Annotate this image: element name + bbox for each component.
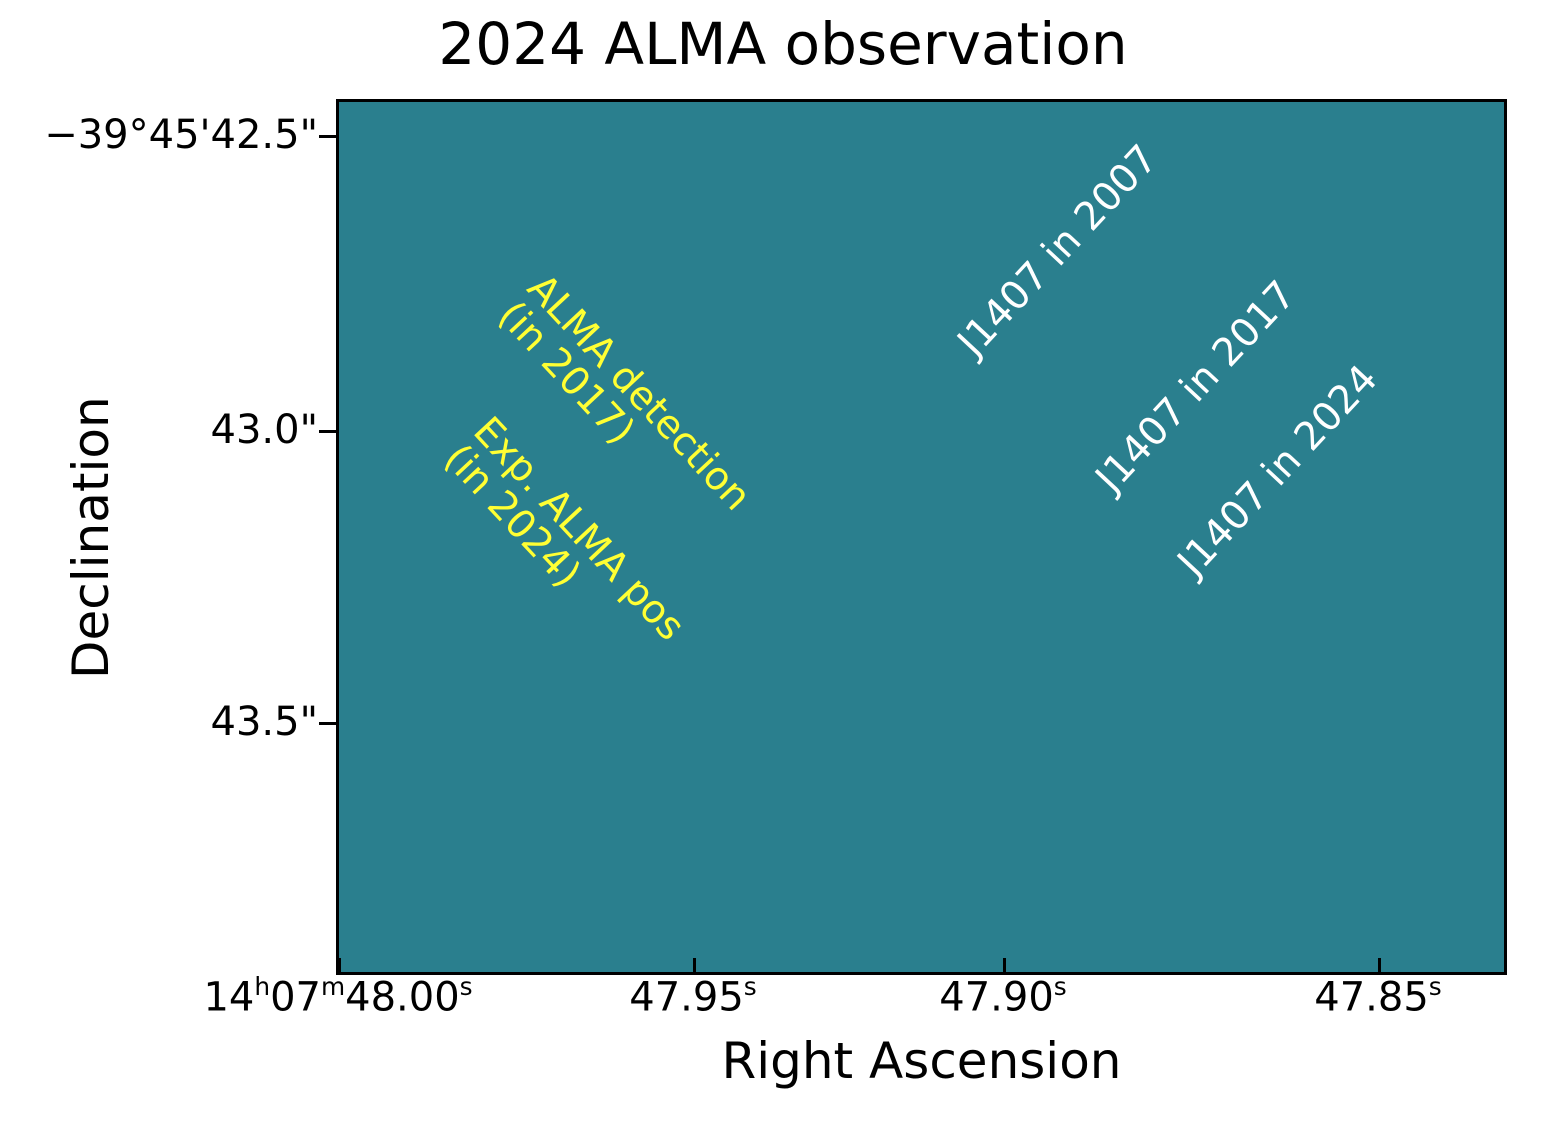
- figure-root: 2024 ALMA observation 14h07m48.00s47.95s…: [0, 0, 1566, 1134]
- y-axis-label: Declination: [62, 396, 120, 679]
- image-plot-axes[interactable]: [336, 99, 1507, 975]
- y-tick-label: 43.0": [211, 407, 318, 453]
- x-axis-label: Right Ascension: [336, 1032, 1507, 1090]
- x-tick-label: 47.85s: [1314, 972, 1441, 1020]
- x-tick-label: 47.90s: [939, 972, 1066, 1020]
- y-tick-mark: [319, 430, 336, 433]
- marker-overlay: [339, 102, 1504, 972]
- page-title: 2024 ALMA observation: [0, 14, 1566, 75]
- x-tick-label: 14h07m48.00s: [203, 972, 472, 1020]
- y-tick-label: 43.5": [211, 699, 318, 745]
- x-tick-label: 47.95s: [629, 972, 756, 1020]
- y-tick-mark: [319, 722, 336, 725]
- y-tick-mark: [319, 135, 336, 138]
- y-tick-label: −39°45'42.5": [44, 112, 318, 158]
